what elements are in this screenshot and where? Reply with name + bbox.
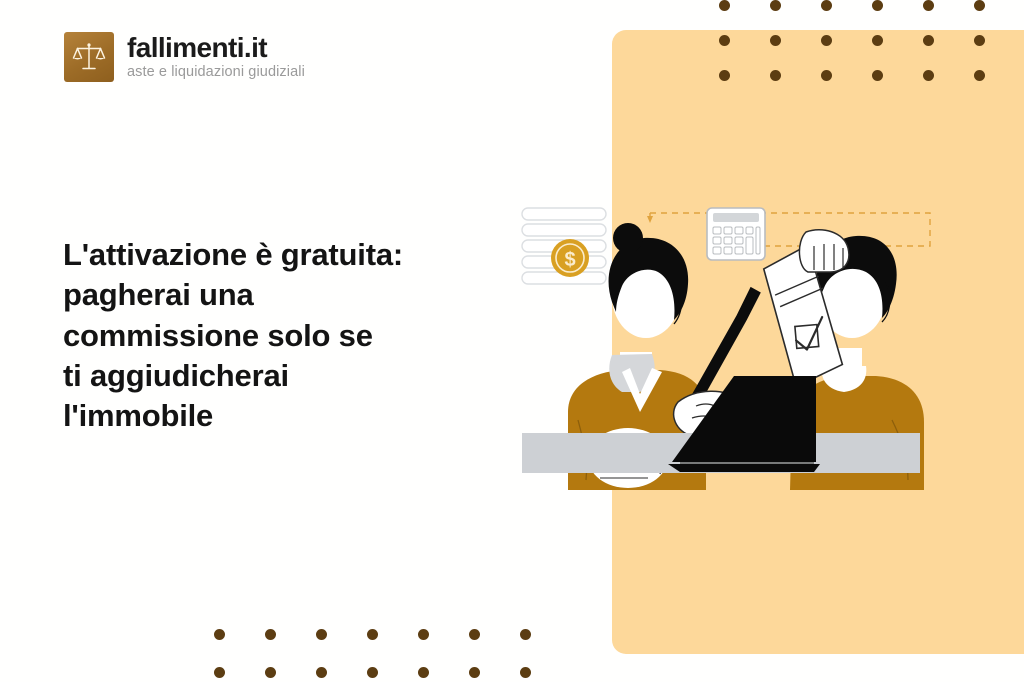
dot (316, 629, 327, 640)
brand-logo[interactable]: fallimenti.it aste e liquidazioni giudiz… (64, 32, 305, 82)
dot (367, 667, 378, 678)
page-headline: L'attivazione è gratuita: pagherai una c… (63, 235, 483, 436)
dot (719, 0, 730, 11)
calculator-icon (707, 208, 765, 260)
scales-of-justice-icon (64, 32, 114, 82)
dot (316, 667, 327, 678)
brand-tagline: aste e liquidazioni giudiziali (127, 64, 305, 81)
dot (923, 70, 934, 81)
hand-holding-document (799, 230, 848, 272)
dot (872, 0, 883, 11)
dot (770, 35, 781, 46)
brand-logo-text: fallimenti.it aste e liquidazioni giudiz… (127, 33, 305, 80)
dot (821, 0, 832, 11)
decorative-dot-grid-bottom-left (214, 629, 571, 682)
dot (821, 70, 832, 81)
arrow-head-down-icon (647, 216, 653, 223)
dollar-coin-icon: $ (551, 239, 589, 277)
dot (214, 667, 225, 678)
dot (265, 667, 276, 678)
dot (418, 629, 429, 640)
dot (923, 0, 934, 11)
dot (770, 70, 781, 81)
two-people-signing-document-illustration: $ (500, 180, 960, 490)
dashed-flow-path (650, 213, 930, 246)
dot (520, 629, 531, 640)
dot (974, 70, 985, 81)
dot (923, 35, 934, 46)
dot (214, 629, 225, 640)
dot (367, 629, 378, 640)
dot (974, 0, 985, 11)
dot (770, 0, 781, 11)
dot (974, 35, 985, 46)
dot (520, 667, 531, 678)
brand-name: fallimenti.it (127, 33, 305, 62)
dot (469, 629, 480, 640)
dot (418, 667, 429, 678)
dot (469, 667, 480, 678)
dot (719, 35, 730, 46)
svg-text:$: $ (564, 249, 575, 271)
dot (821, 35, 832, 46)
dot (872, 70, 883, 81)
decorative-dot-grid-top-right (719, 0, 1024, 105)
dot (872, 35, 883, 46)
poster-canvas: fallimenti.it aste e liquidazioni giudiz… (0, 0, 1024, 682)
dot (265, 629, 276, 640)
dot (719, 70, 730, 81)
